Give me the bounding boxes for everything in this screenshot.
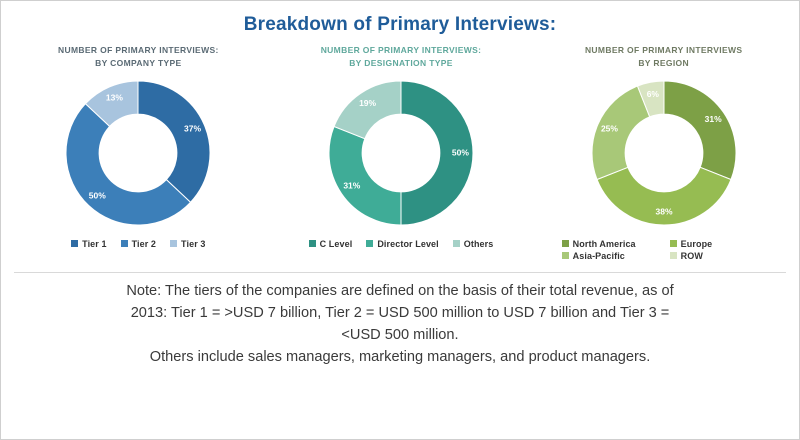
charts-row: NUMBER OF PRIMARY INTERVIEWS: BY COMPANY… [1,36,800,262]
donut-slice-label: 38% [655,207,672,217]
legend-item[interactable]: Tier 3 [170,239,205,249]
legend-item[interactable]: ROW [670,251,766,261]
chart-heading-line1: NUMBER OF PRIMARY INTERVIEWS: [321,44,482,57]
donut-slice-label: 50% [452,147,469,157]
donut-slice-label: 50% [89,190,106,200]
donut-chart-region: 31%38%25%6% [569,74,759,232]
legend-label: Tier 1 [82,239,106,249]
legend-region: North AmericaEuropeAsia-PacificROW [549,238,779,262]
legend-label: Tier 2 [132,239,156,249]
donut-chart-designation-type: 50%31%19% [306,74,496,232]
legend-swatch-icon [670,240,677,247]
legend-company-type: Tier 1Tier 2Tier 3 [13,238,263,250]
legend-label: Asia-Pacific [573,251,625,261]
chart-heading-line2: BY REGION [585,57,742,70]
donut-slice-label: 25% [601,124,618,134]
legend-swatch-icon [562,240,569,247]
legend-label: North America [573,239,636,249]
legend-item[interactable]: Asia-Pacific [562,251,658,261]
page-title: Breakdown of Primary Interviews: [1,1,799,36]
chart-heading-region: NUMBER OF PRIMARY INTERVIEWS BY REGION [585,44,742,72]
donut-svg-region: 31%38%25%6% [570,75,758,231]
note-line-1: Note: The tiers of the companies are def… [27,280,773,302]
legend-label: Others [464,239,494,249]
chart-heading-line2: BY COMPANY TYPE [58,57,219,70]
chart-heading-line2: BY DESIGNATION TYPE [321,57,482,70]
donut-slice [138,81,210,202]
donut-slice-label: 31% [704,114,721,124]
legend-label: ROW [681,251,703,261]
section-divider [14,272,786,273]
chart-panel-designation-type: NUMBER OF PRIMARY INTERVIEWS: BY DESIGNA… [270,44,533,250]
note-block: Note: The tiers of the companies are def… [27,280,773,369]
legend-swatch-icon [366,240,373,247]
donut-slice-label: 6% [646,89,659,99]
legend-swatch-icon [71,240,78,247]
legend-designation-type: C LevelDirector LevelOthers [276,238,526,250]
legend-item[interactable]: Tier 1 [71,239,106,249]
legend-label: Director Level [377,239,438,249]
legend-label: Tier 3 [181,239,205,249]
donut-slice-label: 31% [343,181,360,191]
donut-slice [329,126,401,225]
legend-item[interactable]: Director Level [366,239,438,249]
legend-item[interactable]: C Level [309,239,353,249]
donut-chart-company-type: 37%50%13% [43,74,233,232]
donut-svg-designation-type: 50%31%19% [307,75,495,231]
chart-heading-line1: NUMBER OF PRIMARY INTERVIEWS [585,44,742,57]
chart-panel-company-type: NUMBER OF PRIMARY INTERVIEWS: BY COMPANY… [7,44,270,250]
legend-item[interactable]: North America [562,239,658,249]
chart-panel-region: NUMBER OF PRIMARY INTERVIEWS BY REGION 3… [532,44,795,262]
legend-item[interactable]: Others [453,239,494,249]
note-line-2: 2013: Tier 1 = >USD 7 billion, Tier 2 = … [27,302,773,324]
legend-swatch-icon [453,240,460,247]
chart-heading-line1: NUMBER OF PRIMARY INTERVIEWS: [58,44,219,57]
donut-slice-label: 13% [106,93,123,103]
legend-item[interactable]: Tier 2 [121,239,156,249]
legend-label: Europe [681,239,713,249]
legend-swatch-icon [309,240,316,247]
legend-item[interactable]: Europe [670,239,766,249]
donut-slice [664,81,736,180]
donut-slice-label: 37% [184,124,201,134]
chart-heading-company-type: NUMBER OF PRIMARY INTERVIEWS: BY COMPANY… [58,44,219,72]
infographic-page: Breakdown of Primary Interviews: NUMBER … [0,0,800,440]
chart-heading-designation-type: NUMBER OF PRIMARY INTERVIEWS: BY DESIGNA… [321,44,482,72]
legend-swatch-icon [170,240,177,247]
note-line-3: <USD 500 million. [27,324,773,346]
note-line-4: Others include sales managers, marketing… [27,346,773,368]
donut-slice-label: 19% [359,98,376,108]
legend-swatch-icon [562,252,569,259]
legend-swatch-icon [670,252,677,259]
donut-slice [334,81,401,139]
legend-swatch-icon [121,240,128,247]
donut-svg-company-type: 37%50%13% [44,75,232,231]
legend-label: C Level [320,239,353,249]
